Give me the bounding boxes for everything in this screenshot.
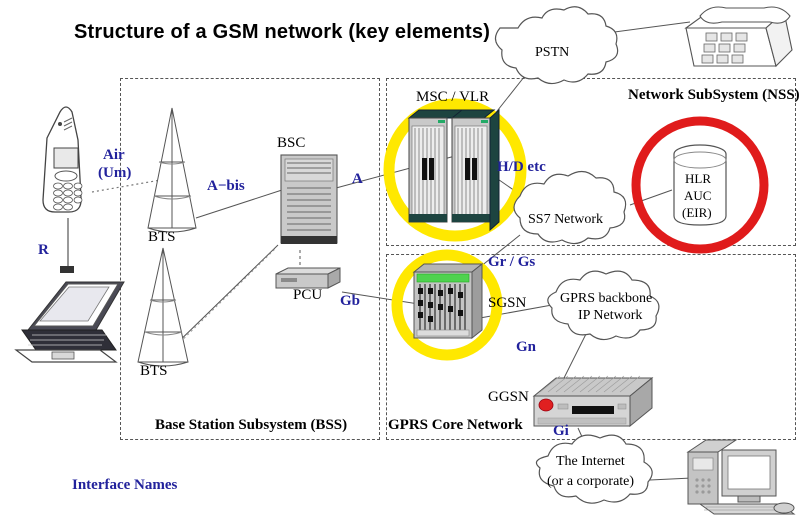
cloud-label-gprs-backbone-1: GPRS backbone <box>560 292 652 307</box>
node-label-ggsn: GGSN <box>488 390 529 406</box>
node-label-bts-upper: BTS <box>148 230 176 246</box>
zone-label-gprs: GPRS Core Network <box>388 418 523 434</box>
cloud-label-pstn: PSTN <box>535 46 569 61</box>
node-label-msc-vlr: MSC / VLR <box>416 90 489 106</box>
cloud-label-gprs-backbone-2: IP Network <box>578 309 642 324</box>
node-label-bsc: BSC <box>277 136 305 152</box>
db-label-eir: (EIR) <box>682 206 712 221</box>
node-label-sgsn: SGSN <box>488 296 526 312</box>
diagram-canvas: Structure of a GSM network (key elements… <box>0 0 800 522</box>
clouds-layer <box>0 0 800 522</box>
ss7-cloud-shape <box>514 171 626 243</box>
legend-interface-names: Interface Names <box>72 478 177 494</box>
interface-label-um: (Um) <box>98 166 131 182</box>
interface-label-abis: A−bis <box>207 179 245 195</box>
interface-label-gi: Gi <box>553 424 569 440</box>
interface-label-gr-gs: Gr / Gs <box>488 255 535 271</box>
node-label-pcu: PCU <box>293 288 322 304</box>
db-label-hlr: HLR <box>685 172 711 187</box>
zone-label-bss: Base Station Subsystem (BSS) <box>155 418 347 434</box>
cloud-label-internet-1: The Internet <box>556 455 625 470</box>
interface-label-h-etc: H/D etc <box>497 160 546 176</box>
db-label-auc: AUC <box>684 189 711 204</box>
cloud-label-ss7: SS7 Network <box>528 213 603 228</box>
interface-label-air: Air <box>103 148 125 164</box>
interface-label-gb: Gb <box>340 294 360 310</box>
cloud-label-internet-2: (or a corporate) <box>547 475 634 490</box>
interface-label-a: A <box>352 172 363 188</box>
zone-label-nss: Network SubSystem (NSS) <box>628 88 800 104</box>
interface-label-gn: Gn <box>516 340 536 356</box>
page-title: Structure of a GSM network (key elements… <box>74 22 490 43</box>
interface-label-r: R <box>38 243 49 259</box>
node-label-bts-lower: BTS <box>140 364 168 380</box>
